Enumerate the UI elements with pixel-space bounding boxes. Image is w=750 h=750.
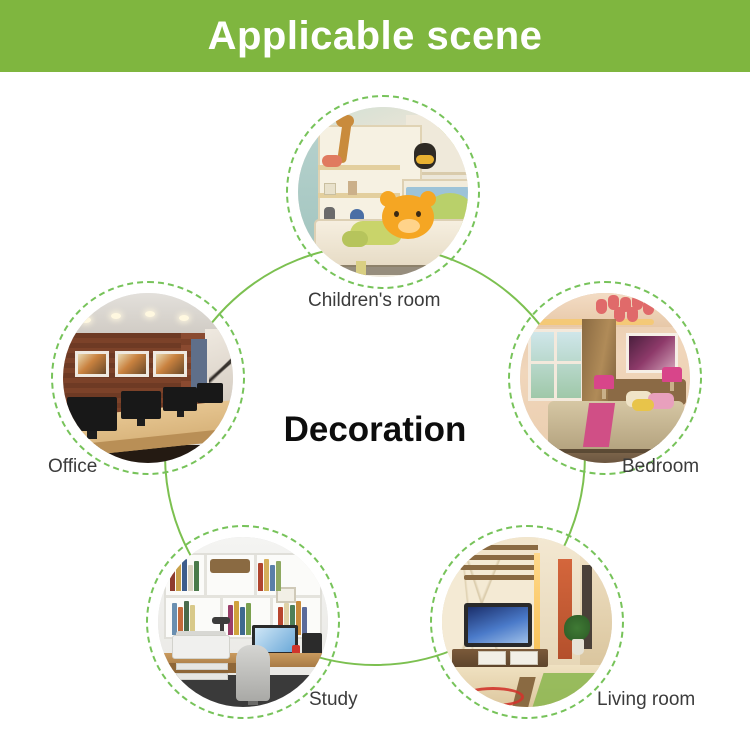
childrens-room-photo [298, 107, 468, 277]
living-room-photo [442, 537, 612, 707]
scene-diagram: Decoration [0, 72, 750, 750]
scene-caption-bedroom: Bedroom [622, 456, 699, 478]
scene-caption-office: Office [48, 456, 97, 478]
scene-caption-living: Living room [597, 689, 695, 711]
study-photo [158, 537, 328, 707]
page-title: Applicable scene [208, 16, 543, 56]
scene-caption-children: Children's room [308, 290, 440, 312]
scene-node-living[interactable] [430, 525, 624, 719]
header-banner: Applicable scene [0, 0, 750, 72]
scene-caption-study: Study [309, 689, 358, 711]
center-label: Decoration [0, 410, 750, 450]
scene-node-children[interactable] [286, 95, 480, 289]
